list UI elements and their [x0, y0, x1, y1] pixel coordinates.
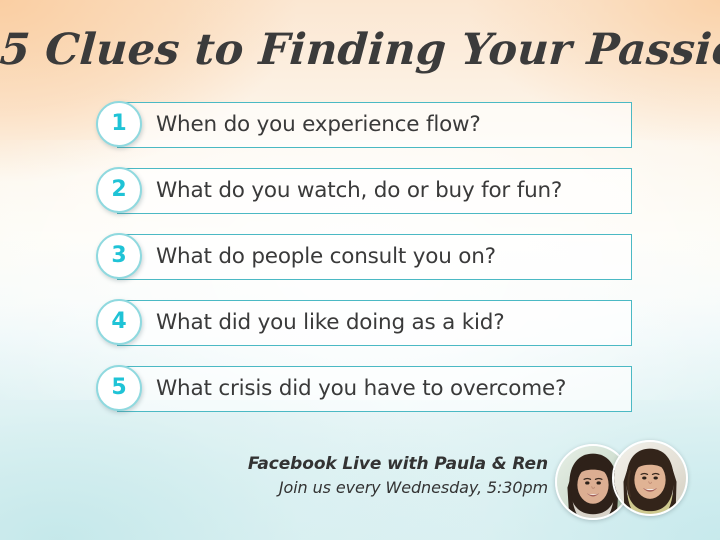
- clue-number-badge-1: 1: [96, 101, 142, 147]
- clue-box-5[interactable]: What crisis did you have to overcome?: [117, 366, 632, 412]
- clue-box-1[interactable]: When do you experience flow?: [117, 102, 632, 148]
- clue-item-3[interactable]: What do people consult you on? 3: [96, 234, 632, 280]
- clue-number-badge-3: 3: [96, 233, 142, 279]
- clue-text-2: What do you watch, do or buy for fun?: [156, 179, 562, 203]
- footer-text-block: Facebook Live with Paula & Ren Join us e…: [150, 452, 548, 499]
- clue-number-badge-2: 2: [96, 167, 142, 213]
- clue-item-5[interactable]: What crisis did you have to overcome? 5: [96, 366, 632, 412]
- clue-text-5: What crisis did you have to overcome?: [156, 377, 566, 401]
- clue-number-badge-4: 4: [96, 299, 142, 345]
- avatar-ren: [612, 440, 688, 516]
- footer-title: Facebook Live with Paula & Ren: [150, 452, 548, 476]
- clue-number-2: 2: [111, 179, 126, 201]
- clue-box-2[interactable]: What do you watch, do or buy for fun?: [117, 168, 632, 214]
- clue-number-5: 5: [111, 377, 126, 399]
- clue-text-3: What do people consult you on?: [156, 245, 496, 269]
- slide-canvas: 5 Clues to Finding Your Passions When do…: [0, 0, 720, 540]
- footer-subtitle: Join us every Wednesday, 5:30pm: [150, 476, 548, 499]
- clue-box-3[interactable]: What do people consult you on?: [117, 234, 632, 280]
- clue-box-4[interactable]: What did you like doing as a kid?: [117, 300, 632, 346]
- clue-text-1: When do you experience flow?: [156, 113, 481, 137]
- clue-number-1: 1: [111, 113, 126, 135]
- clue-list: When do you experience flow? 1 What do y…: [0, 102, 720, 424]
- clue-item-2[interactable]: What do you watch, do or buy for fun? 2: [96, 168, 632, 214]
- clue-text-4: What did you like doing as a kid?: [156, 311, 504, 335]
- clue-number-badge-5: 5: [96, 365, 142, 411]
- clue-item-1[interactable]: When do you experience flow? 1: [96, 102, 632, 148]
- page-title: 5 Clues to Finding Your Passions: [0, 24, 720, 76]
- clue-number-3: 3: [111, 245, 126, 267]
- clue-item-4[interactable]: What did you like doing as a kid? 4: [96, 300, 632, 346]
- clue-number-4: 4: [111, 311, 126, 333]
